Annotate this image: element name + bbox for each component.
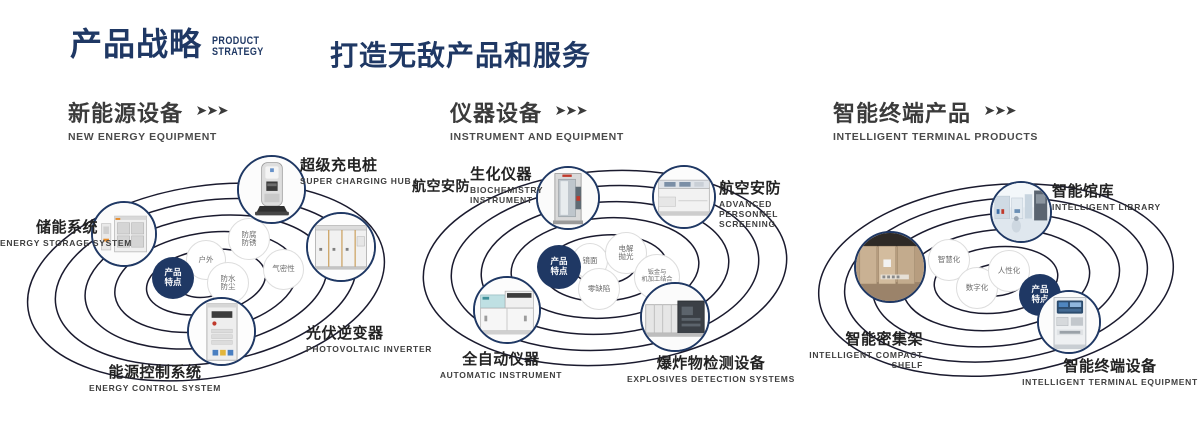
node-label-super-charging-hub: 超级充电桩 SUPER CHARGING HUB	[300, 154, 411, 186]
node-label-cn: 智能终端设备	[1022, 355, 1198, 376]
product-strategy-infographic: 产品战略 PRODUCT STRATEGY 打造无敌产品和服务 新能源设备 ➤➤…	[0, 0, 1200, 422]
node-label-cn: 能源控制系统	[80, 361, 230, 382]
node-label-en: AUTOMATIC INSTRUMENT	[430, 370, 572, 380]
chevrons-right-icon: ➤➤➤	[983, 102, 1015, 119]
feature-bubble-line1: 数字化	[966, 284, 989, 292]
feature-bubble-line2: 抛光	[619, 253, 634, 261]
compact-shelf-icon	[856, 233, 924, 301]
self-service-kiosk-icon	[1039, 292, 1099, 352]
core-bubble-line2: 特点	[164, 278, 181, 288]
page-title-cn: 产品战略	[70, 28, 202, 60]
feature-bubble-line1: 镜面	[583, 257, 598, 265]
node-photo-intelligent-library[interactable]	[990, 181, 1052, 243]
chevrons-right-icon: ➤➤➤	[554, 102, 586, 119]
feature-bubble: 零缺陷	[578, 268, 620, 310]
feature-bubble-line2: 防尘	[221, 283, 236, 291]
section-title-new-energy: 新能源设备 ➤➤➤ NEW ENERGY EQUIPMENT	[68, 96, 228, 143]
node-label-intelligent-library: 智能馆库 INTELLIGENT LIBRARY	[1052, 180, 1161, 212]
node-label-en: SUPER CHARGING HUB	[300, 176, 411, 186]
node-label-energy-storage: 储能系统 ENERGY STORAGE SYSTEM	[0, 216, 98, 248]
node-photo-intelligent-compact-shelf[interactable]	[854, 231, 926, 303]
battery-cabinet-icon	[93, 203, 155, 265]
node-label-explosives-detection: 爆炸物检测设备 EXPLOSIVES DETECTION SYSTEMS	[626, 352, 796, 384]
core-bubble-line2: 特点	[550, 267, 567, 277]
node-photo-super-charging-hub[interactable]	[237, 155, 306, 224]
charging-pile-icon	[239, 157, 304, 222]
explosive-detector-icon	[642, 284, 708, 350]
node-label-cn: 智能馆库	[1052, 180, 1161, 201]
page-subtitle: 打造无敌产品和服务	[330, 34, 591, 74]
node-photo-energy-control-system[interactable]	[187, 297, 256, 366]
node-label-aviation-security-left: 航空安防	[412, 176, 470, 196]
core-bubble-product-features: 产品 特点	[152, 257, 194, 299]
node-label-en: EXPLOSIVES DETECTION SYSTEMS	[626, 374, 796, 384]
page-title-en: PRODUCT STRATEGY	[212, 36, 264, 58]
screening-machine-icon	[654, 167, 714, 227]
section-title-en: NEW ENERGY EQUIPMENT	[68, 131, 228, 143]
node-label-cn: 爆炸物检测设备	[626, 352, 796, 373]
node-label-cn: 生化仪器	[470, 163, 554, 184]
page-title: 产品战略 PRODUCT STRATEGY	[70, 28, 275, 60]
feature-bubble-line1: 智慧化	[938, 256, 961, 264]
node-photo-energy-storage[interactable]	[91, 201, 157, 267]
automatic-analyzer-icon	[475, 278, 539, 342]
section-title-intelligent-terminal: 智能终端产品 ➤➤➤ INTELLIGENT TERMINAL PRODUCTS	[833, 96, 1038, 143]
feature-bubble-line1: 零缺陷	[588, 285, 611, 293]
feature-bubble-line1: 气密性	[272, 265, 295, 273]
page-title-en-line2: STRATEGY	[212, 47, 264, 58]
node-label-automatic-instrument: 全自动仪器 AUTOMATIC INSTRUMENT	[430, 348, 572, 380]
node-label-energy-control-system: 能源控制系统 ENERGY CONTROL SYSTEM	[80, 361, 230, 393]
library-room-icon	[992, 183, 1050, 241]
control-cabinet-icon	[189, 299, 254, 364]
inverter-cabinet-icon	[308, 214, 374, 280]
section-title-en: INTELLIGENT TERMINAL PRODUCTS	[833, 131, 1038, 143]
node-label-cn: 航空安防	[412, 176, 470, 196]
section-title-en: INSTRUMENT AND EQUIPMENT	[450, 131, 624, 143]
section-title-cn: 新能源设备	[68, 96, 183, 128]
node-label-cn: 储能系统	[0, 216, 98, 237]
feature-bubble-line1: 人性化	[998, 267, 1021, 275]
node-photo-explosives-detection[interactable]	[640, 282, 710, 352]
node-label-intelligent-terminal-equipment: 智能终端设备 INTELLIGENT TERMINAL EQUIPMENT	[1022, 355, 1198, 387]
section-title-cn: 仪器设备	[450, 96, 542, 128]
node-photo-intelligent-terminal-equipment[interactable]	[1037, 290, 1101, 354]
node-photo-photovoltaic-inverter[interactable]	[306, 212, 376, 282]
node-label-en: BIOCHEMISTRY INSTRUMENT	[470, 185, 554, 205]
node-photo-advanced-personnel-screening[interactable]	[652, 165, 716, 229]
core-bubble-product-features: 产品 特点	[537, 245, 581, 289]
section-title-instrument: 仪器设备 ➤➤➤ INSTRUMENT AND EQUIPMENT	[450, 96, 624, 143]
node-photo-automatic-instrument[interactable]	[473, 276, 541, 344]
node-label-en: INTELLIGENT LIBRARY	[1052, 202, 1161, 212]
feature-bubble: 气密性	[263, 249, 304, 290]
node-label-cn: 全自动仪器	[430, 348, 572, 369]
node-label-en: INTELLIGENT COMPACT SHELF	[793, 350, 923, 370]
node-label-biochemistry-instrument: 生化仪器 BIOCHEMISTRY INSTRUMENT	[470, 163, 554, 205]
feature-bubble-line2: 防锈	[242, 239, 257, 247]
feature-bubble: 防腐 防锈	[228, 218, 270, 260]
node-label-en: ENERGY CONTROL SYSTEM	[80, 383, 230, 393]
node-label-cn: 智能密集架	[793, 328, 923, 349]
node-label-cn: 超级充电桩	[300, 154, 411, 175]
chevrons-right-icon: ➤➤➤	[195, 102, 227, 119]
node-label-intelligent-compact-shelf: 智能密集架 INTELLIGENT COMPACT SHELF	[793, 328, 923, 370]
section-title-cn: 智能终端产品	[833, 96, 971, 128]
node-label-en: INTELLIGENT TERMINAL EQUIPMENT	[1022, 377, 1198, 387]
node-label-en: ENERGY STORAGE SYSTEM	[0, 238, 98, 248]
feature-bubble-line1: 户外	[199, 256, 214, 264]
